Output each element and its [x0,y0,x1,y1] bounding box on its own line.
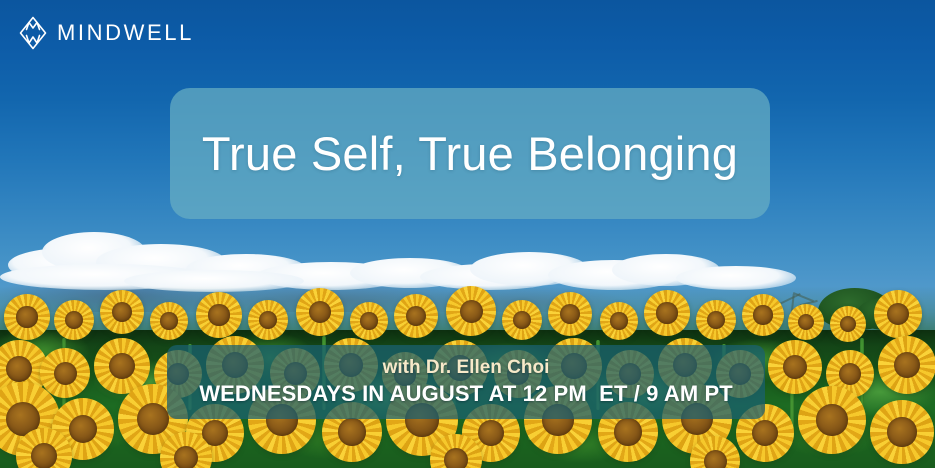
mindwell-diamond-monogram-icon [18,16,48,50]
speaker-name: with Dr. Ellen Choi [383,358,550,379]
event-schedule: WEDNESDAYS IN AUGUST AT 12 PM ET / 9 AM … [199,382,733,406]
page-title: True Self, True Belonging [202,130,738,177]
brand-name: MINDWELL [57,22,194,44]
event-details-card: with Dr. Ellen Choi WEDNESDAYS IN AUGUST… [167,345,765,419]
title-card: True Self, True Belonging [170,88,770,219]
brand-logo[interactable]: MINDWELL [18,16,194,50]
promotional-banner: MINDWELL True Self, True Belonging with … [0,0,935,468]
